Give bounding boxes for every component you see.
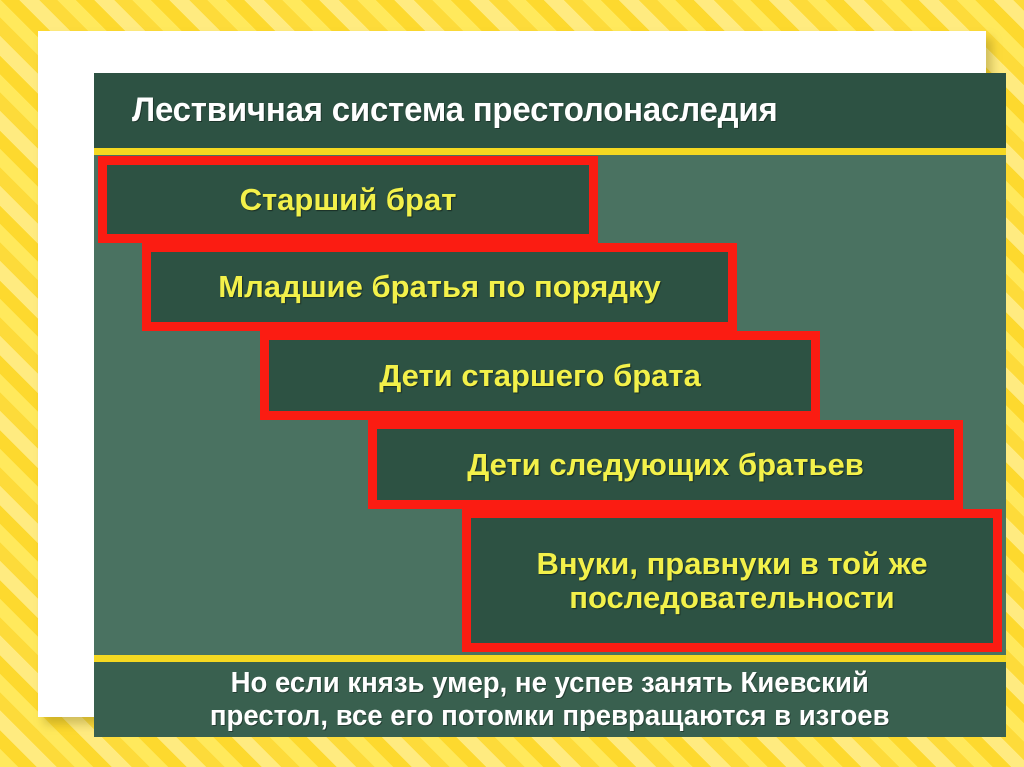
divider-bottom [94,655,1006,662]
divider-top [94,148,1006,155]
staircase-step-3: Дети старшего брата [260,331,820,420]
staircase-step-5-label: Внуки, правнуки в той же последовательно… [536,547,927,614]
succession-staircase: Старший брат Младшие братья по порядку Д… [94,155,1006,653]
staircase-step-2: Младшие братья по порядку [142,243,737,331]
staircase-step-4-label: Дети следующих братьев [467,448,864,481]
staircase-step-4: Дети следующих братьев [368,420,963,509]
page-title: Лествичная система престолонаследия [132,91,778,130]
staircase-step-2-label: Младшие братья по порядку [218,270,660,303]
slide-page: { "slide": { "title": "Лествичная систем… [0,0,1024,767]
staircase-step-3-label: Дети старшего брата [379,359,701,392]
staircase-step-1: Старший брат [98,156,598,243]
slide-footer: Но если князь умер, не успев занять Киев… [94,662,1006,737]
slide-title-band: Лествичная система престолонаследия [94,73,1006,148]
slide-panel: Лествичная система престолонаследия Стар… [94,73,1006,737]
footer-note: Но если князь умер, не успев занять Киев… [210,667,890,732]
slide-card-frame: Лествичная система престолонаследия Стар… [38,31,986,717]
staircase-step-1-label: Старший брат [240,183,457,216]
staircase-step-5: Внуки, правнуки в той же последовательно… [462,509,1002,652]
